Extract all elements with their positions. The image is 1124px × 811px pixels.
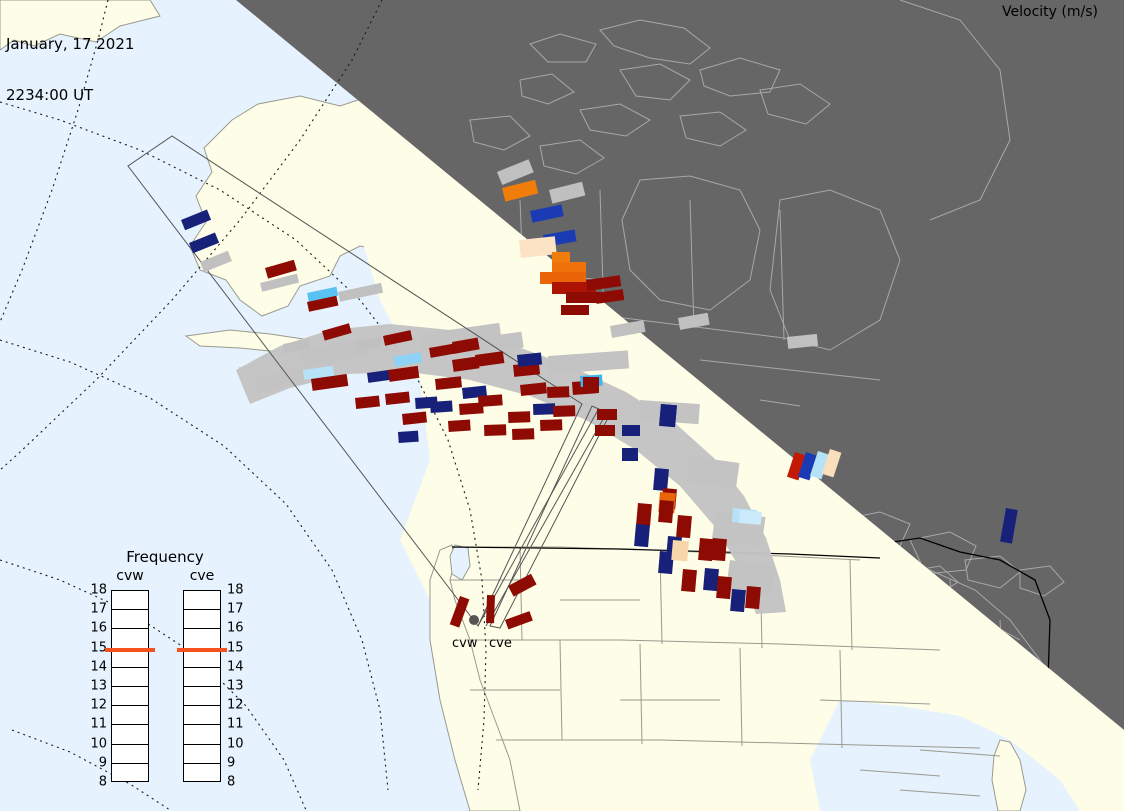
velocity-cell <box>189 233 219 254</box>
frequency-tick-label: 10 <box>227 736 251 751</box>
ground-scatter-cell <box>283 339 310 352</box>
frequency-gridline <box>184 744 220 745</box>
velocity-cell <box>393 352 422 367</box>
velocity-cell <box>322 323 352 340</box>
velocity-cell <box>385 391 410 404</box>
frequency-gridline <box>112 686 148 687</box>
ground-scatter-cell <box>678 313 710 330</box>
velocity-cell <box>636 503 652 526</box>
velocity-cell <box>478 394 503 407</box>
velocity-cell <box>561 305 589 315</box>
ground-scatter-cell <box>200 251 232 272</box>
velocity-cell <box>430 400 453 413</box>
frequency-tick-label: 16 <box>227 621 251 636</box>
velocity-cell <box>547 386 569 398</box>
velocity-cell <box>448 419 471 432</box>
frequency-tick-label: 12 <box>227 698 251 713</box>
frequency-tick-label: 18 <box>227 583 251 598</box>
frequency-tick-label: 8 <box>85 775 107 790</box>
velocity-cell <box>583 377 599 393</box>
velocity-cell <box>597 409 617 420</box>
velocity-cell <box>388 366 419 382</box>
frequency-tick-label: 13 <box>85 679 107 694</box>
velocity-cell <box>540 419 562 431</box>
frequency-gridline <box>184 686 220 687</box>
frequency-gridline <box>112 705 148 706</box>
velocity-cell <box>659 404 677 427</box>
frequency-gridline <box>112 628 148 629</box>
frequency-tick-label: 16 <box>85 621 107 636</box>
velocity-cell <box>586 275 621 291</box>
frequency-gridline <box>184 628 220 629</box>
velocity-cell <box>484 424 506 436</box>
velocity-cell <box>508 411 530 423</box>
velocity-cell <box>508 574 537 597</box>
velocity-cell <box>658 500 674 523</box>
station-label-cvw: cvw <box>452 636 477 651</box>
ground-scatter-cell <box>549 182 585 204</box>
frequency-tick-label: 14 <box>227 659 251 674</box>
velocity-cell <box>730 589 746 612</box>
title-date: January, 17 2021 <box>6 36 134 53</box>
station-label-cve: cve <box>489 636 512 651</box>
frequency-tick-label: 11 <box>85 717 107 732</box>
frequency-marker-cve <box>177 648 227 652</box>
velocity-cell <box>450 596 470 628</box>
velocity-cell <box>533 403 555 415</box>
frequency-gridline <box>184 705 220 706</box>
velocity-cell <box>681 569 697 592</box>
colorbar: Velocity (m/s) 5004003002001000-100-200-… <box>980 0 1124 340</box>
velocity-cell <box>512 428 534 440</box>
frequency-gridline <box>184 763 220 764</box>
timestamp-title: January, 17 2021 2234:00 UT <box>6 2 134 138</box>
velocity-cell <box>553 405 575 417</box>
frequency-tick-label: 15 <box>227 640 251 655</box>
velocity-cell <box>739 510 762 525</box>
frequency-tick-label: 17 <box>85 602 107 617</box>
velocity-cell <box>398 431 419 443</box>
frequency-legend-title: Frequency <box>85 548 245 566</box>
frequency-tick-label: 18 <box>85 583 107 598</box>
velocity-cell <box>622 448 638 461</box>
velocity-cell <box>486 595 495 623</box>
velocity-cell <box>475 351 504 367</box>
velocity-cell <box>634 524 650 547</box>
velocity-cell <box>452 337 480 353</box>
velocity-cell <box>520 382 547 396</box>
frequency-tick-label: 9 <box>85 755 107 770</box>
velocity-cell <box>595 425 615 436</box>
velocity-cell <box>402 411 427 424</box>
superdarn-velocity-map: January, 17 2021 2234:00 UT Velocity (m/… <box>0 0 1124 811</box>
ground-scatter-cell <box>787 334 818 349</box>
frequency-tick-label: 10 <box>85 736 107 751</box>
frequency-tick-label: 9 <box>227 755 251 770</box>
velocity-cell <box>622 425 640 436</box>
frequency-tick-label: 13 <box>227 679 251 694</box>
frequency-tick-label: 17 <box>227 602 251 617</box>
frequency-gridline <box>112 744 148 745</box>
ground-scatter-cell <box>610 320 646 338</box>
frequency-tick-label: 12 <box>85 698 107 713</box>
velocity-cell <box>671 540 689 561</box>
frequency-gridline <box>112 724 148 725</box>
velocity-cell <box>745 586 761 609</box>
ground-scatter-cell <box>338 283 383 302</box>
velocity-cell <box>383 330 412 346</box>
frequency-gridline <box>184 667 220 668</box>
frequency-gridline <box>112 763 148 764</box>
colorbar-title: Velocity (m/s) <box>980 4 1120 20</box>
frequency-tick-label: 14 <box>85 659 107 674</box>
frequency-marker-cvw <box>105 648 155 652</box>
velocity-cell <box>355 395 380 408</box>
velocity-cell <box>505 611 533 629</box>
frequency-column-label-cvw: cvw <box>105 568 155 584</box>
frequency-column-label-cve: cve <box>177 568 227 584</box>
velocity-cell <box>435 376 462 390</box>
velocity-cell <box>181 210 211 231</box>
velocity-cell <box>711 538 727 561</box>
title-time: 2234:00 UT <box>6 87 134 104</box>
velocity-cell <box>1000 508 1018 544</box>
velocity-cell <box>676 515 692 538</box>
velocity-cell <box>517 352 542 366</box>
velocity-cell <box>502 180 538 202</box>
velocity-cell <box>716 576 732 599</box>
frequency-legend: Frequency cvw18171615141312111098cve1817… <box>85 548 245 788</box>
ground-scatter-cell <box>260 274 299 292</box>
ground-scatter-cell <box>355 337 382 350</box>
frequency-tick-label: 8 <box>227 775 251 790</box>
frequency-gridline <box>184 609 220 610</box>
frequency-gridline <box>112 609 148 610</box>
frequency-gridline <box>112 667 148 668</box>
frequency-gridline <box>184 724 220 725</box>
frequency-tick-label: 11 <box>227 717 251 732</box>
velocity-cell <box>530 204 564 222</box>
frequency-tick-label: 15 <box>85 640 107 655</box>
velocity-cell <box>595 289 624 304</box>
